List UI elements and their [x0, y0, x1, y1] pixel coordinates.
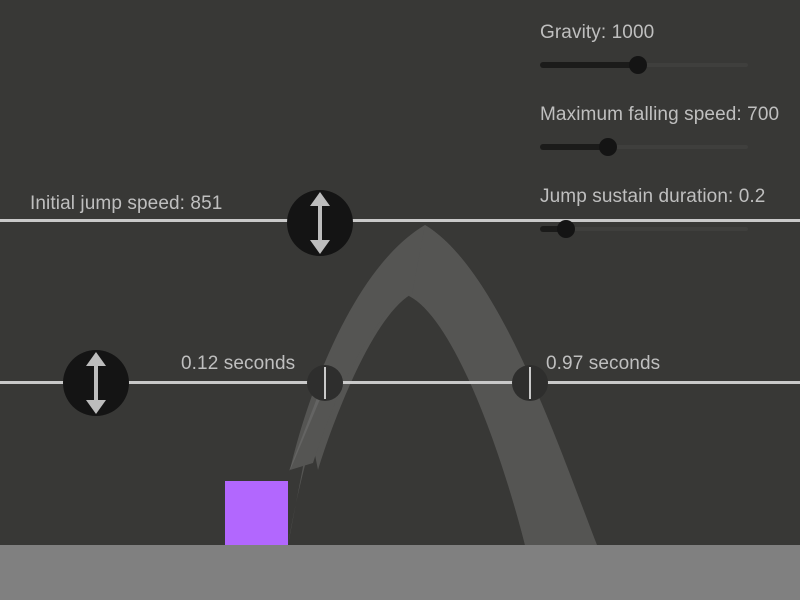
time-marker-1-handle[interactable]	[307, 365, 343, 401]
gravity-slider[interactable]	[540, 56, 748, 74]
apex-drag-handle[interactable]	[63, 350, 129, 416]
maximum-falling-speed-slider-label: Maximum falling speed: 700	[540, 104, 790, 126]
vertical-double-arrow-icon	[287, 190, 353, 256]
arc-band-left	[290, 225, 425, 470]
time-marker-tick-icon	[324, 367, 326, 399]
gravity-slider-fill	[540, 62, 638, 68]
jump-sustain-duration-slider[interactable]	[540, 220, 748, 238]
slider-group-maximum-falling-speed: Maximum falling speed: 700	[540, 104, 790, 156]
gravity-slider-thumb[interactable]	[629, 56, 647, 74]
maximum-falling-speed-slider-fill	[540, 144, 608, 150]
maximum-falling-speed-slider[interactable]	[540, 138, 748, 156]
parameter-slider-panel: Gravity: 1000 Maximum falling speed: 700…	[540, 22, 790, 268]
vertical-double-arrow-icon	[63, 350, 129, 416]
gravity-slider-label: Gravity: 1000	[540, 22, 790, 44]
jump-sustain-duration-slider-thumb[interactable]	[557, 220, 575, 238]
time-marker-2-label: 0.97 seconds	[546, 353, 660, 375]
time-marker-1-label: 0.12 seconds	[181, 353, 295, 375]
time-marker-tick-icon	[529, 367, 531, 399]
initial-jump-speed-label: Initial jump speed: 851	[30, 193, 222, 215]
ground-platform	[0, 545, 800, 600]
player-character[interactable]	[225, 481, 288, 545]
jump-speed-drag-handle[interactable]	[287, 190, 353, 256]
slider-group-gravity: Gravity: 1000	[540, 22, 790, 74]
arc-band-right	[409, 225, 597, 545]
simulation-canvas: Initial jump speed: 851 0.12 seconds 0.9…	[0, 0, 800, 600]
jump-sustain-duration-slider-label: Jump sustain duration: 0.2	[540, 186, 790, 208]
time-marker-2-handle[interactable]	[512, 365, 548, 401]
maximum-falling-speed-slider-thumb[interactable]	[599, 138, 617, 156]
slider-group-jump-sustain-duration: Jump sustain duration: 0.2	[540, 186, 790, 238]
